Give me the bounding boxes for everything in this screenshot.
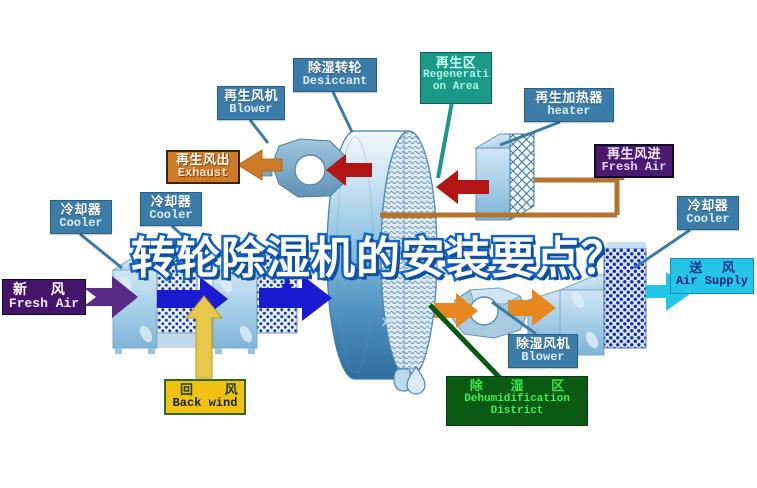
label-regeneration-blower[interactable]: 再生风机 Blower <box>217 86 285 120</box>
label-regen-fresh-air-in[interactable]: 再生风进 Fresh Air <box>594 144 674 178</box>
label-cn: 冷却器 <box>51 203 111 217</box>
label-fresh-air-in[interactable]: 新 风 Fresh Air <box>2 279 86 315</box>
heater-unit <box>476 134 535 220</box>
label-regeneration-heater[interactable]: 再生加热器 heater <box>524 88 614 122</box>
label-cooler-left-2[interactable]: 冷却器 Cooler <box>140 192 202 226</box>
label-en: Fresh Air <box>596 161 672 174</box>
label-cn: 再生风出 <box>168 153 238 167</box>
label-cn: 新 风 <box>3 282 85 297</box>
label-en: Back wind <box>166 397 244 410</box>
watermark-text: xt <box>382 313 395 330</box>
label-en: Fresh Air <box>3 297 85 311</box>
label-en: Cooler <box>678 213 738 226</box>
label-exhaust-air[interactable]: 再生风出 Exhaust <box>166 150 240 184</box>
label-en: Air Supply <box>671 275 753 288</box>
label-dehumidification-district[interactable]: 除 湿 区 Dehumidification District <box>446 376 588 426</box>
label-cn: 除湿风机 <box>509 337 577 351</box>
label-desiccant-rotor[interactable]: 除湿转轮 Desiccant <box>293 58 377 92</box>
label-en: Regenerati on Area <box>421 70 491 93</box>
label-cn: 除 湿 区 <box>447 379 587 393</box>
label-cooler-left-1[interactable]: 冷却器 Cooler <box>50 200 112 234</box>
label-en: heater <box>525 105 613 118</box>
schematic-graphics: xt <box>0 0 757 488</box>
label-en: Blower <box>218 103 284 116</box>
label-en: Desiccant <box>294 75 376 88</box>
label-en: Cooler <box>51 217 111 230</box>
drain-pan <box>394 367 425 394</box>
label-cn: 冷却器 <box>678 199 738 213</box>
label-cn: 送 风 <box>671 261 753 275</box>
label-en: Blower <box>509 351 577 364</box>
label-back-wind[interactable]: 回 风 Back wind <box>164 379 246 415</box>
label-cn: 回 风 <box>166 383 244 397</box>
label-en: Exhaust <box>168 167 238 180</box>
label-cn: 再生风机 <box>218 89 284 103</box>
label-cn: 再生区 <box>421 56 491 70</box>
label-cn: 再生加热器 <box>525 91 613 105</box>
label-cooler-right[interactable]: 冷却器 Cooler <box>677 196 739 230</box>
label-en: Cooler <box>141 209 201 222</box>
label-cn: 再生风进 <box>596 147 672 161</box>
label-cn: 除湿转轮 <box>294 61 376 75</box>
label-en: Dehumidification District <box>447 393 587 417</box>
label-cn: 冷却器 <box>141 195 201 209</box>
diagram-canvas: xt 再生风机 Blower 除湿转轮 Desiccant 再生区 Regene… <box>0 0 757 488</box>
label-regeneration-area[interactable]: 再生区 Regenerati on Area <box>420 52 492 104</box>
label-air-supply[interactable]: 送 风 Air Supply <box>670 258 754 294</box>
label-dehumidify-blower[interactable]: 除湿风机 Blower <box>508 334 578 368</box>
